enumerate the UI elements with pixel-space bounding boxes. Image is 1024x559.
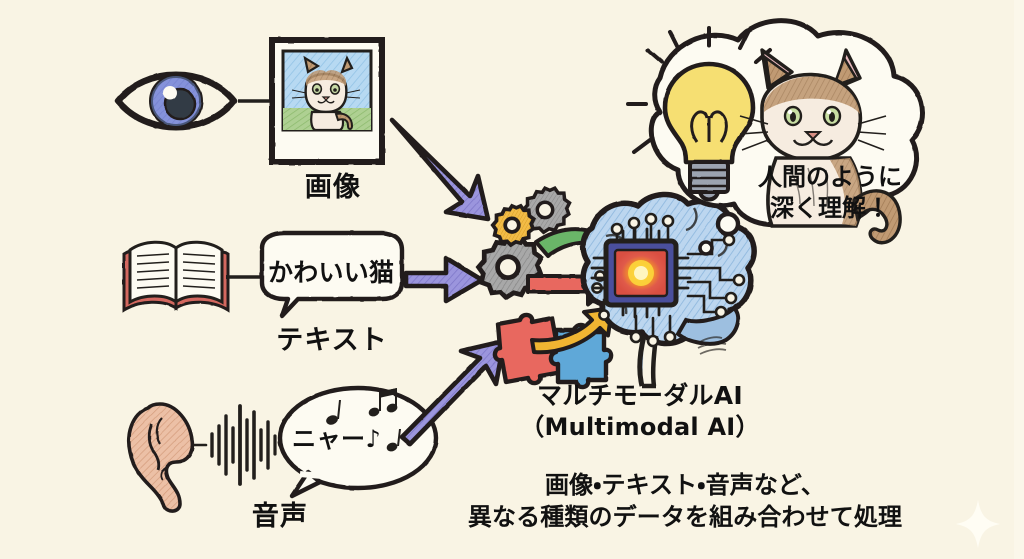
ai-title-en: （Multimodal AI） [500, 412, 780, 442]
text-to-ai-arrow[interactable] [406, 258, 482, 301]
ai-title-jp: マルチモーダルAI [500, 381, 780, 412]
thought-cloud-line2: 深く理解！ [740, 193, 920, 224]
photo-frame-icon [272, 40, 382, 162]
audio-bubble-label: ニャー♪ [292, 419, 381, 454]
thought-cloud-text: 人間のように 深く理解！ [740, 162, 920, 223]
caption-block: 画像・テキスト・音声など、 異なる種類のデータを組み合わせて処理 [405, 470, 965, 534]
input-label-text: テキスト [212, 318, 452, 357]
open-book-icon [124, 242, 228, 310]
cpu-chip-icon [606, 241, 676, 305]
thought-cloud-line1: 人間のように [740, 162, 920, 193]
caption-line2: 異なる種類のデータを組み合わせて処理 [405, 502, 965, 534]
text-bubble-label: かわいい猫 [268, 253, 394, 289]
ear-icon [129, 404, 193, 511]
ai-title-block: マルチモーダルAI （Multimodal AI） [500, 381, 780, 442]
gear-icon [493, 206, 534, 245]
caption-line1: 画像・テキスト・音声など、 [405, 470, 965, 502]
input-label-audio: 音声 [190, 494, 370, 533]
eye-icon [118, 75, 234, 128]
input-label-image: 画像 [243, 165, 423, 204]
infographic-canvas: 画像 テキスト 音声 かわいい猫 ニャー♪ 人間のように 深く理解！ マルチモー… [0, 0, 1024, 559]
